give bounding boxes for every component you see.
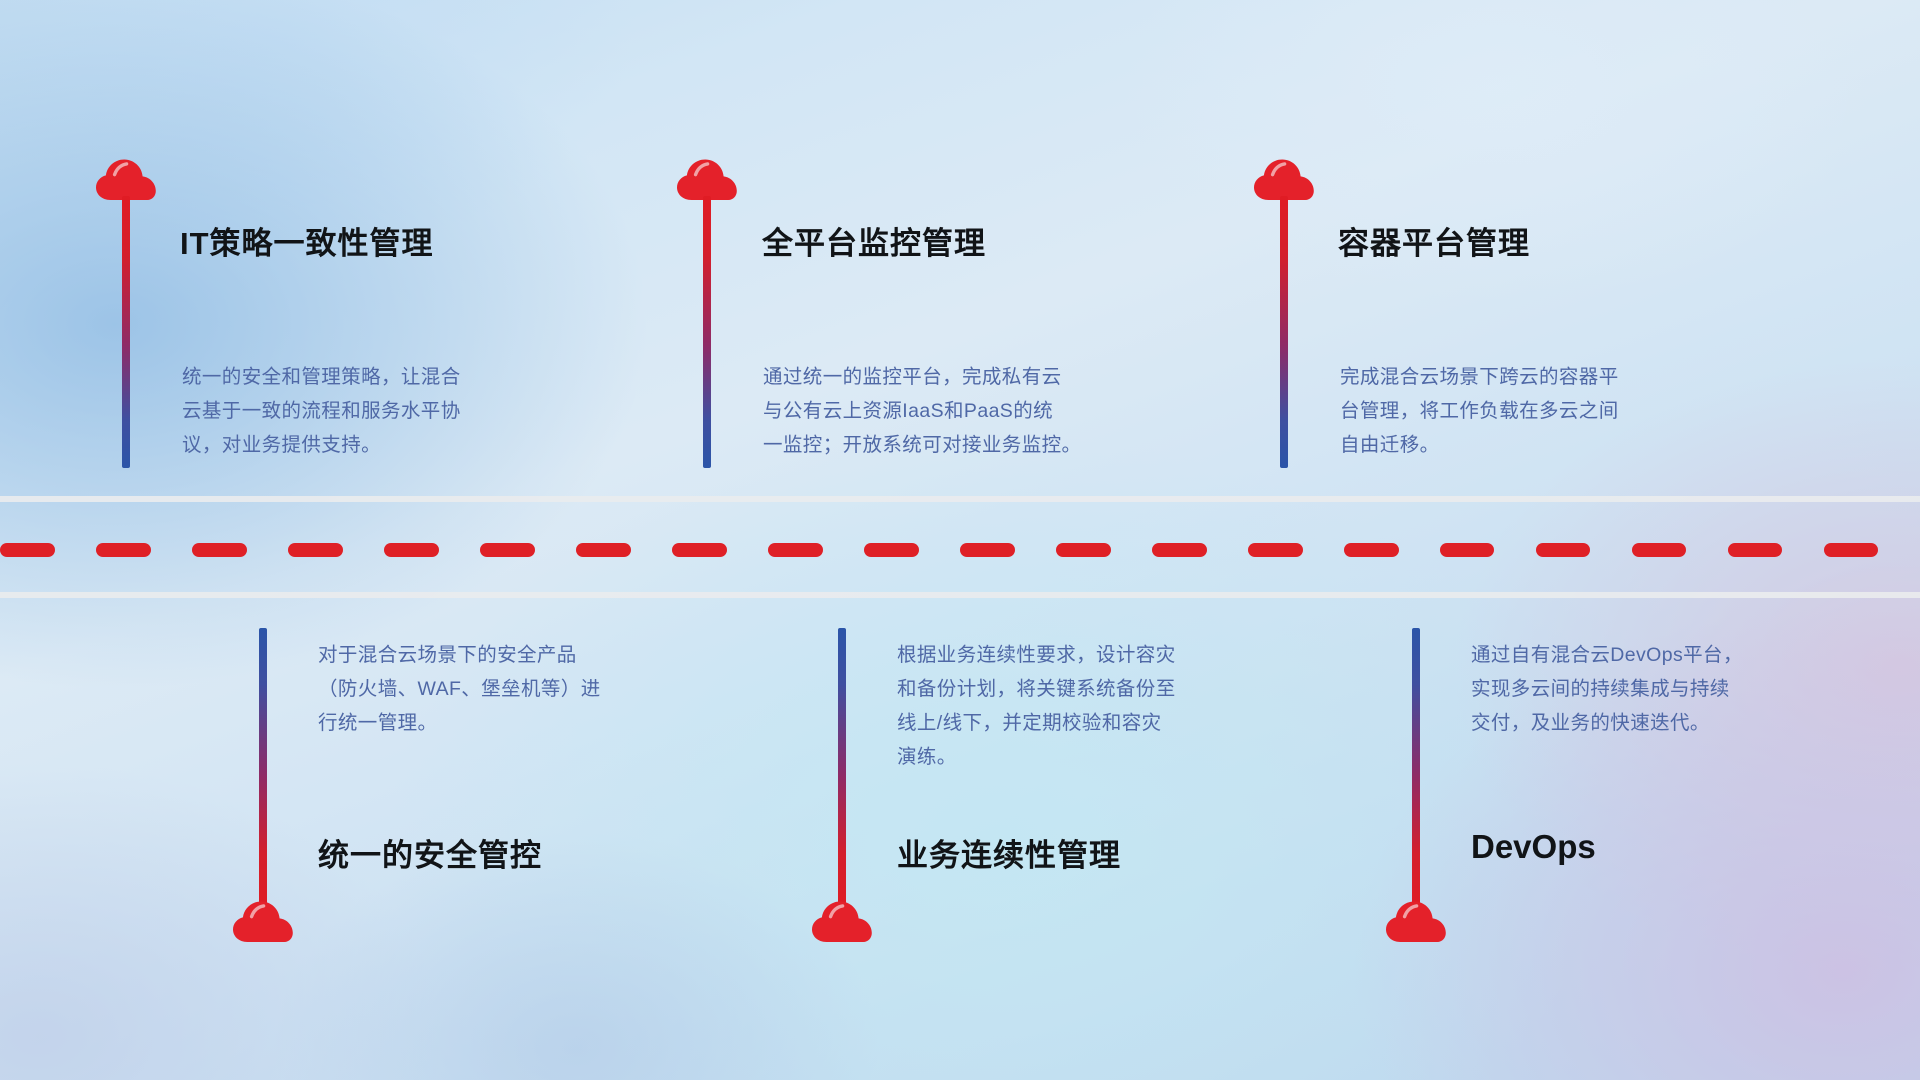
timeline-pin [1280, 196, 1288, 468]
body-line: 通过自有混合云DevOps平台， [1471, 638, 1743, 672]
body-line: 根据业务连续性要求，设计容灾 [897, 638, 1176, 672]
timeline-pin [259, 628, 267, 910]
item-title: 容器平台管理 [1338, 218, 1530, 263]
timeline-pin [122, 196, 130, 468]
road-dash [672, 543, 727, 557]
road-dash [1344, 543, 1399, 557]
road-dash [288, 543, 343, 557]
road-dash [192, 543, 247, 557]
body-line: 交付，及业务的快速迭代。 [1471, 706, 1743, 740]
road-dash [864, 543, 919, 557]
road-dash [1152, 543, 1207, 557]
road-dash [576, 543, 631, 557]
item-title: 统一的安全管控 [318, 830, 542, 875]
cloud-icon [811, 900, 873, 944]
road-dash [96, 543, 151, 557]
road-dash [1440, 543, 1495, 557]
road-dashes [0, 543, 1920, 557]
road-line-top [0, 496, 1920, 502]
item-body: 完成混合云场景下跨云的容器平 台管理，将工作负载在多云之间 自由迁移。 [1340, 360, 1619, 462]
body-line: 对于混合云场景下的安全产品 [318, 638, 601, 672]
body-line: 演练。 [897, 740, 1176, 774]
road-dash [1632, 543, 1687, 557]
road-dash [1056, 543, 1111, 557]
timeline-pin [1412, 628, 1420, 910]
body-line: 台管理，将工作负载在多云之间 [1340, 394, 1619, 428]
road-dash [384, 543, 439, 557]
body-line: 实现多云间的持续集成与持续 [1471, 672, 1743, 706]
body-line: 云基于一致的流程和服务水平协 [182, 394, 461, 428]
cloud-icon [232, 900, 294, 944]
body-line: 通过统一的监控平台，完成私有云 [763, 360, 1081, 394]
body-line: 线上/线下，并定期校验和容灾 [897, 706, 1176, 740]
road-dash [768, 543, 823, 557]
item-title: IT策略一致性管理 [180, 218, 434, 263]
road-dash [1728, 543, 1783, 557]
body-line: 和备份计划，将关键系统备份至 [897, 672, 1176, 706]
body-line: 统一的安全和管理策略，让混合 [182, 360, 461, 394]
item-body: 通过自有混合云DevOps平台， 实现多云间的持续集成与持续 交付，及业务的快速… [1471, 638, 1743, 740]
item-title: 全平台监控管理 [762, 218, 986, 263]
timeline-pin [703, 196, 711, 468]
road-line-bottom [0, 592, 1920, 598]
item-body: 统一的安全和管理策略，让混合 云基于一致的流程和服务水平协 议，对业务提供支持。 [182, 360, 461, 462]
road-dash [960, 543, 1015, 557]
road-dash [480, 543, 535, 557]
road-dash [0, 543, 55, 557]
item-body: 通过统一的监控平台，完成私有云 与公有云上资源IaaS和PaaS的统 一监控；开… [763, 360, 1081, 462]
cloud-icon [1385, 900, 1447, 944]
timeline-pin [838, 628, 846, 910]
body-line: 完成混合云场景下跨云的容器平 [1340, 360, 1619, 394]
body-line: （防火墙、WAF、堡垒机等）进 [318, 672, 601, 706]
body-line: 行统一管理。 [318, 706, 601, 740]
item-body: 根据业务连续性要求，设计容灾 和备份计划，将关键系统备份至 线上/线下，并定期校… [897, 638, 1176, 774]
body-line: 自由迁移。 [1340, 428, 1619, 462]
road-dash [1824, 543, 1879, 557]
body-line: 与公有云上资源IaaS和PaaS的统 [763, 394, 1081, 428]
infographic-stage: IT策略一致性管理 统一的安全和管理策略，让混合 云基于一致的流程和服务水平协 … [0, 0, 1920, 1080]
item-title: 业务连续性管理 [897, 830, 1121, 875]
body-line: 议，对业务提供支持。 [182, 428, 461, 462]
road-dash [1536, 543, 1591, 557]
body-line: 一监控；开放系统可对接业务监控。 [763, 428, 1081, 462]
item-title: DevOps [1471, 828, 1596, 866]
item-body: 对于混合云场景下的安全产品 （防火墙、WAF、堡垒机等）进 行统一管理。 [318, 638, 601, 740]
road-dash [1248, 543, 1303, 557]
